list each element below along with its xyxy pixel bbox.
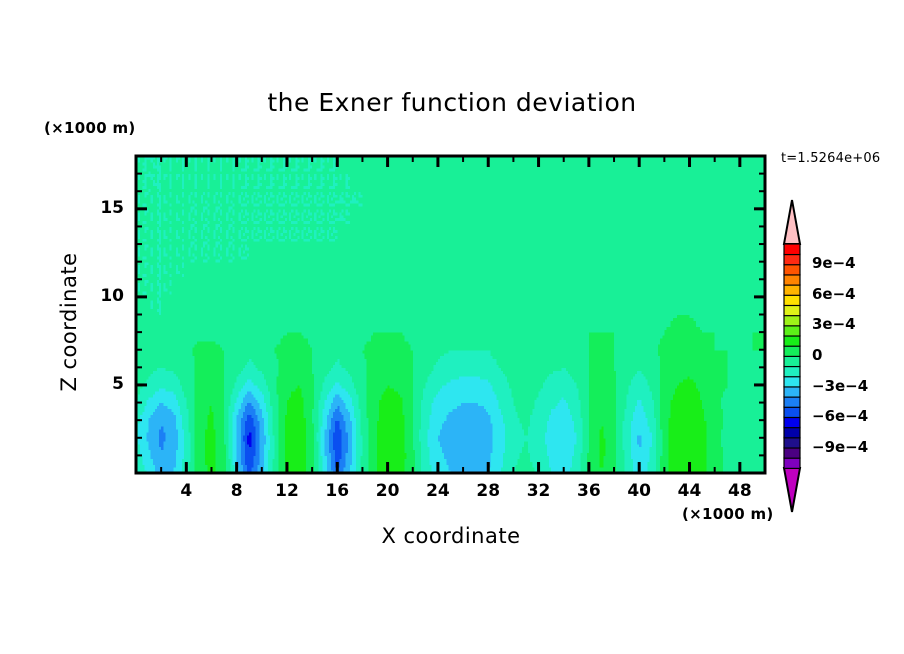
colorbar	[784, 200, 800, 512]
colorbar-band	[784, 305, 800, 316]
colorbar-band	[784, 437, 800, 448]
colorbar-tick-label: 6e−4	[812, 285, 856, 303]
y-tick-label: 15	[74, 198, 124, 218]
colorbar-band	[784, 254, 800, 265]
colorbar-tick-label: −3e−4	[812, 377, 868, 395]
y-axis-title: Z coordinate	[57, 212, 81, 432]
colorbar-band	[784, 387, 800, 398]
x-axis-units-label: (×1000 m)	[682, 505, 774, 523]
colorbar-band	[784, 346, 800, 357]
colorbar-band	[784, 376, 800, 387]
contour-plot-figure: the Exner function deviation (×1000 m) t…	[0, 0, 904, 654]
colorbar-band	[784, 336, 800, 347]
colorbar-band	[784, 325, 800, 336]
colorbar-band	[784, 285, 800, 296]
y-tick-label: 5	[74, 374, 124, 394]
colorbar-band	[784, 264, 800, 275]
colorbar-tick-label: 0	[812, 346, 822, 364]
colorbar-band	[784, 448, 800, 459]
colorbar-band	[784, 275, 800, 286]
colorbar-band	[784, 427, 800, 438]
colorbar-tick-label: −9e−4	[812, 438, 868, 456]
colorbar-band	[784, 244, 800, 255]
y-tick-label: 10	[74, 286, 124, 306]
contour-field	[136, 156, 766, 474]
time-stamp-label: t=1.5264e+06	[781, 151, 880, 166]
y-axis-units-label: (×1000 m)	[44, 119, 136, 137]
colorbar-band	[784, 366, 800, 377]
colorbar-over-arrow	[784, 200, 800, 244]
colorbar-band	[784, 407, 800, 418]
colorbar-under-arrow	[784, 468, 800, 512]
colorbar-band	[784, 397, 800, 408]
colorbar-tick-label: 9e−4	[812, 254, 856, 272]
x-tick-label: 48	[710, 481, 770, 501]
colorbar-tick-label: 3e−4	[812, 315, 856, 333]
colorbar-band	[784, 356, 800, 367]
colorbar-band	[784, 295, 800, 306]
colorbar-tick-label: −6e−4	[812, 407, 868, 425]
page-title: the Exner function deviation	[0, 88, 904, 117]
colorbar-band	[784, 315, 800, 326]
colorbar-band	[784, 417, 800, 428]
x-axis-title: X coordinate	[136, 524, 766, 548]
colorbar-band	[784, 458, 800, 469]
